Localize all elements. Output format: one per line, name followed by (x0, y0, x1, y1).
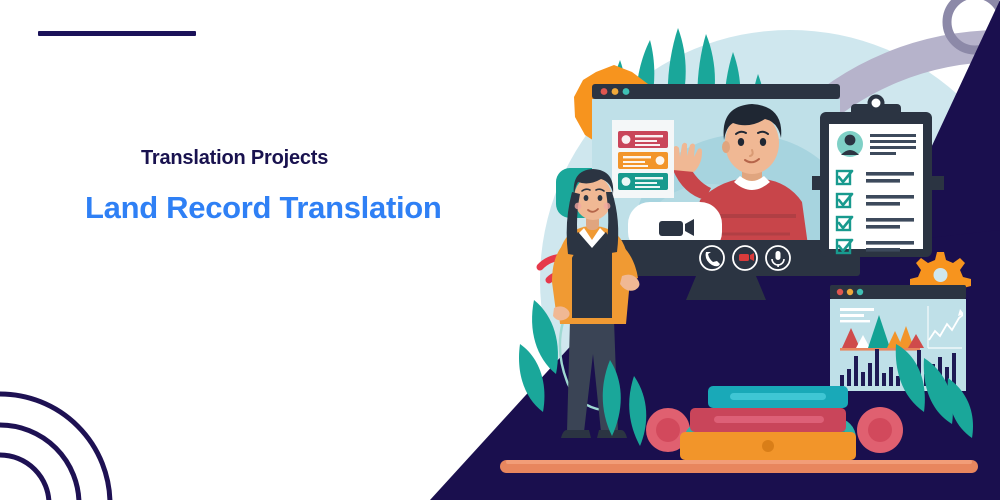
accent-rule (38, 31, 196, 36)
window-dot-yellow (612, 88, 619, 95)
video-camera-icon-control (739, 253, 754, 261)
flower-red (857, 407, 903, 453)
stacked-books (680, 386, 856, 460)
analytics-window (830, 285, 966, 391)
clipboard-checklist (812, 97, 944, 258)
promo-banner: Translation Projects Land Record Transla… (0, 0, 1000, 500)
window-dot-green (623, 88, 630, 95)
window-dot-red (601, 88, 608, 95)
clipboard-clip-hole (870, 97, 883, 110)
page-title: Land Record Translation (85, 190, 442, 226)
eyebrow-label: Translation Projects (141, 147, 328, 170)
monitor-stand (686, 276, 766, 300)
presenter-card (612, 120, 674, 198)
shelf-highlight (506, 460, 972, 464)
hero-illustration (500, 0, 1000, 500)
text-column: Translation Projects Land Record Transla… (0, 0, 500, 500)
